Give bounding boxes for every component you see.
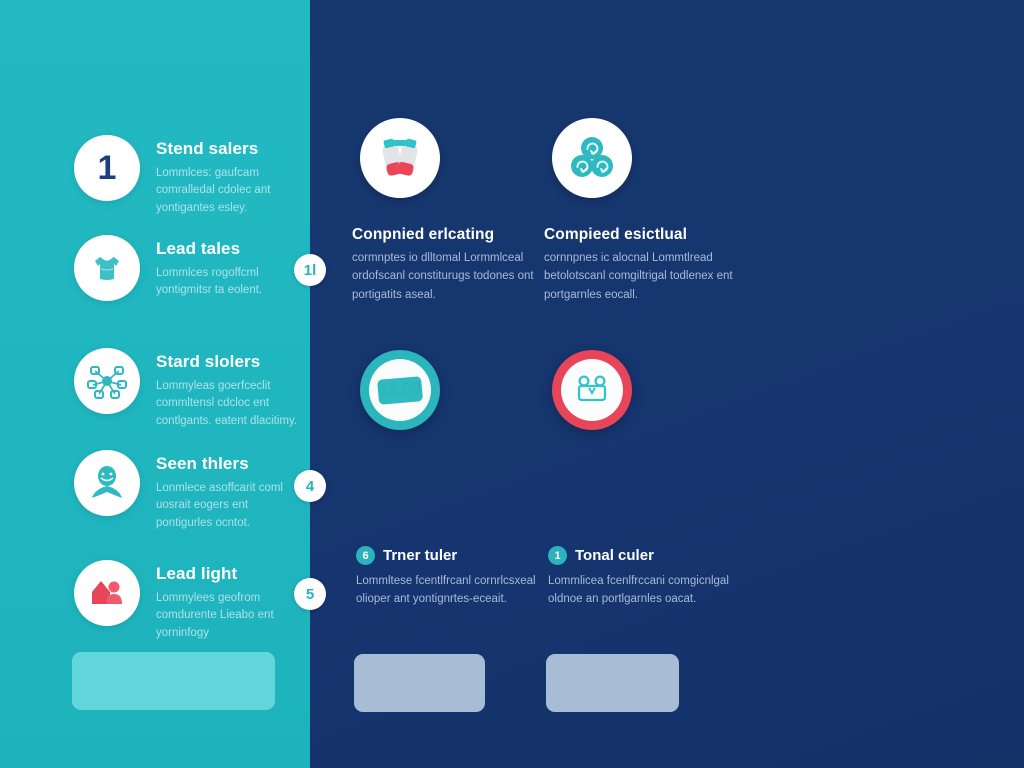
step-text-1: Stend salers Lommlces: gaufcam comralled…	[156, 135, 304, 218]
step-item-4[interactable]: Seen thlers Lonmlece asoffcarit coml uos…	[74, 450, 304, 533]
face-robot-icon	[570, 370, 614, 410]
person-scarf-icon	[86, 462, 128, 504]
step-text-4: Seen thlers Lonmlece asoffcarit coml uos…	[156, 450, 304, 533]
bottom-item-trner-badge: 6	[356, 546, 375, 565]
bottom-item-tonal-body: Lommlicea fcenlfrccani comgicnlgal oldno…	[548, 572, 748, 609]
icon-card-bottles[interactable]: Conpnied erlcating cormnptes io dlltomal…	[352, 118, 552, 304]
step-body-2: Lommlces rogoffcml yontigmitsr ta eolent…	[156, 265, 304, 301]
placeholder-bar-left[interactable]	[72, 652, 275, 710]
step-badge-1: 1	[74, 135, 140, 201]
step-badge-3	[74, 348, 140, 414]
step-text-5: Lead light Lommylees geofrom comdurente …	[156, 560, 304, 643]
step-text-3: Stard slolers Lommyleas goerfceclit comm…	[156, 348, 304, 431]
bottom-item-tonal[interactable]: 1 Tonal culer Lommlicea fcenlfrccani com…	[548, 546, 748, 609]
step-title-5: Lead light	[156, 564, 304, 584]
bottom-item-trner-head: 6 Trner tuler	[356, 546, 556, 565]
price-icon-disc: 12.90	[360, 350, 440, 430]
step-item-2[interactable]: Lead tales Lommlces rogoffcml yontigmits…	[74, 235, 304, 301]
bottom-item-trner-body: Lommltese fcentlfrcanl cornrlcsxeal olio…	[356, 572, 556, 609]
step-item-5[interactable]: Lead light Lommylees geofrom comdurente …	[74, 560, 304, 643]
bottom-item-trner-title: Trner tuler	[383, 547, 457, 564]
step-item-1[interactable]: 1 Stend salers Lommlces: gaufcam comrall…	[74, 135, 304, 218]
step-number-1: 1	[98, 151, 117, 185]
placeholder-bar-center[interactable]	[354, 654, 485, 712]
bottom-item-tonal-badge: 1	[548, 546, 567, 565]
step-title-4: Seen thlers	[156, 454, 304, 474]
home-person-icon	[86, 572, 128, 614]
step-item-3[interactable]: Stard slolers Lommyleas goerfceclit comm…	[74, 348, 304, 431]
step-badge-5	[74, 560, 140, 626]
icon-card-price[interactable]: 12.90	[352, 350, 552, 430]
bottles-icon	[373, 131, 427, 185]
divider-badge-5[interactable]: 5	[294, 578, 326, 610]
step-body-3: Lommyleas goerfceclit commltensl cdcloc …	[156, 378, 304, 431]
divider-badge-4[interactable]: 4	[294, 470, 326, 502]
step-text-2: Lead tales Lommlces rogoffcml yontigmits…	[156, 235, 304, 300]
icon-card-recycle-title: Compieed esictlual	[544, 226, 744, 244]
network-molecule-icon	[85, 359, 129, 403]
step-body-1: Lommlces: gaufcam comralledal cdolec ant…	[156, 165, 304, 218]
bottom-item-trner[interactable]: 6 Trner tuler Lommltese fcentlfrcanl cor…	[356, 546, 556, 609]
icon-card-face[interactable]	[544, 350, 744, 430]
step-body-4: Lonmlece asoffcarit coml uosrait eogers …	[156, 480, 304, 533]
bottles-icon-disc	[360, 118, 440, 198]
step-body-5: Lommylees geofrom comdurente Lieabo ent …	[156, 590, 304, 643]
price-inner-disc: 12.90	[369, 359, 431, 421]
infographic-canvas: 1 Stend salers Lommlces: gaufcam comrall…	[0, 0, 1024, 768]
bottom-item-tonal-head: 1 Tonal culer	[548, 546, 748, 565]
face-icon-disc	[552, 350, 632, 430]
placeholder-bar-right[interactable]	[546, 654, 679, 712]
step-badge-4	[74, 450, 140, 516]
recycle-triad-icon	[565, 131, 619, 185]
price-value: 12.90	[378, 378, 422, 401]
icon-card-recycle[interactable]: Compieed esictlual cornnpnes ic alocnal …	[544, 118, 744, 304]
step-badge-2	[74, 235, 140, 301]
icon-card-bottles-body: cormnptes io dlltomal Lormmlceal ordofsc…	[352, 249, 552, 304]
step-title-3: Stard slolers	[156, 352, 304, 372]
bottom-item-tonal-title: Tonal culer	[575, 547, 654, 564]
price-tag-icon: 12.90	[374, 370, 426, 410]
icon-card-recycle-body: cornnpnes ic alocnal Lommtlread betolots…	[544, 249, 744, 304]
icon-card-bottles-title: Conpnied erlcating	[352, 226, 552, 244]
step-title-2: Lead tales	[156, 239, 304, 259]
recycle-icon-disc	[552, 118, 632, 198]
face-inner-disc	[561, 359, 623, 421]
divider-badge-2[interactable]: 1l	[294, 254, 326, 286]
tshirt-icon	[87, 248, 127, 288]
step-title-1: Stend salers	[156, 139, 304, 159]
